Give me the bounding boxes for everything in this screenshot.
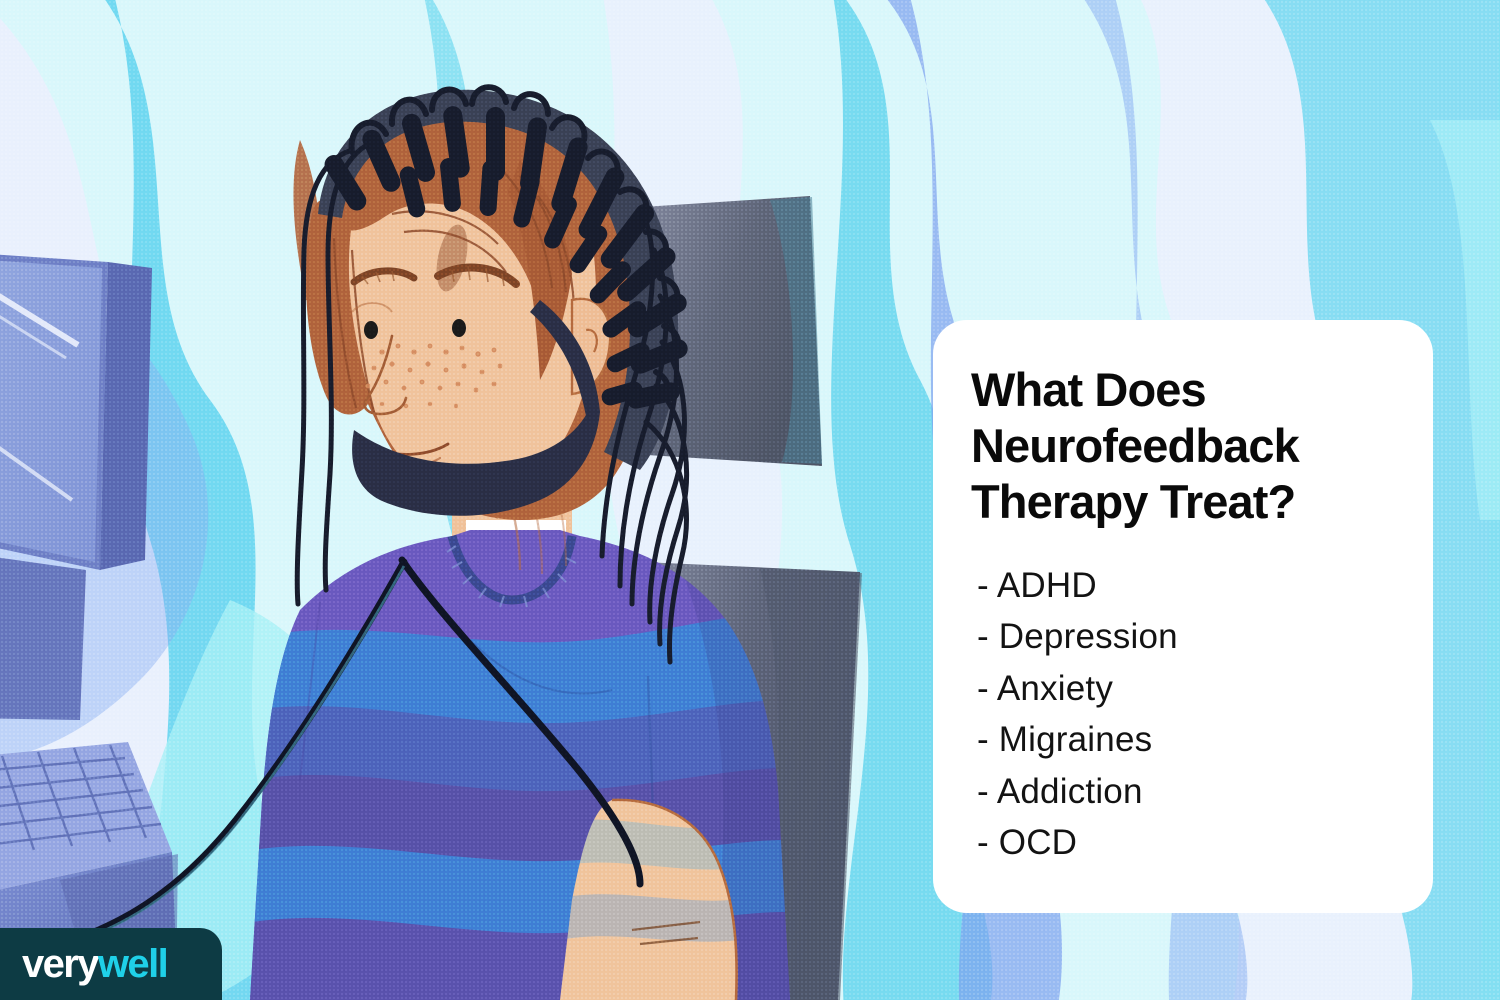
- list-item-depression: - Depression: [977, 611, 1433, 662]
- computer-monitor: [0, 252, 152, 720]
- info-card: What Does Neurofeedback Therapy Treat? -…: [933, 320, 1433, 913]
- verywell-logo[interactable]: verywell: [0, 928, 222, 1000]
- logo-text-very: very: [22, 944, 98, 984]
- list-item-ocd: - OCD: [977, 817, 1433, 868]
- list-item-addiction: - Addiction: [977, 766, 1433, 817]
- list-item-anxiety: - Anxiety: [977, 663, 1433, 714]
- card-title: What Does Neurofeedback Therapy Treat?: [971, 362, 1401, 530]
- list-item-migraines: - Migraines: [977, 714, 1433, 765]
- logo-text-well: well: [98, 944, 167, 984]
- list-item-adhd: - ADHD: [977, 560, 1433, 611]
- illustration-canvas: What Does Neurofeedback Therapy Treat? -…: [0, 0, 1500, 1000]
- conditions-list: - ADHD - Depression - Anxiety - Migraine…: [971, 560, 1433, 869]
